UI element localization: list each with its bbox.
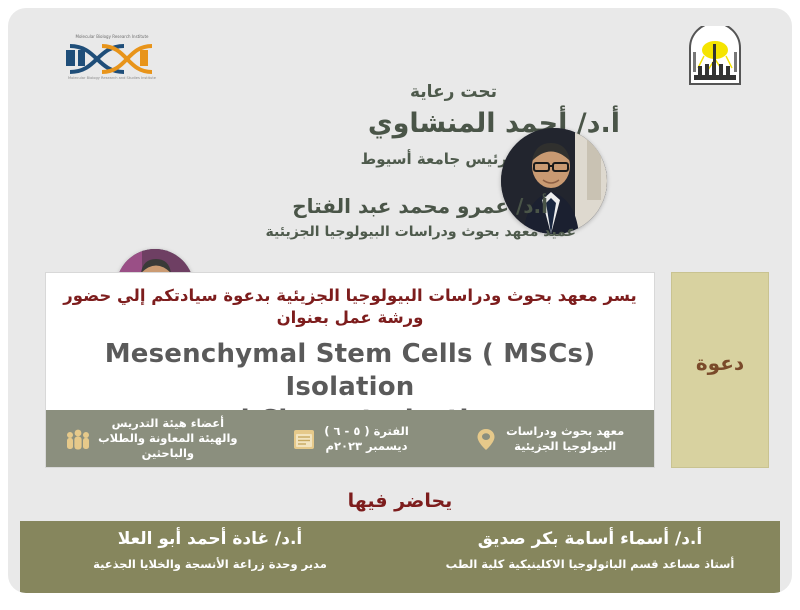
speaker-1-name: أ.د/ غادة أحمد أبو العلا [36,529,384,550]
under-patronage-label: تحت رعاية [410,82,497,102]
location-pin-icon [473,426,499,452]
people-group-icon [65,426,91,452]
poster-card: Molecular Biology Research Institute Mol… [8,8,792,593]
calendar-icon [291,426,317,452]
speaker-1: أ.د/ غادة أحمد أبو العلا مدير وحدة زراعة… [20,521,400,593]
chief-name: أ.د/ أحمد المنشاوي [368,108,620,139]
info-text-location: معهد بحوث ودراسات البيولوجيا الجزيئية [506,424,624,454]
dean-role: عميد معهد بحوث ودراسات البيولوجيا الجزيئ… [266,224,576,240]
poster-root: Molecular Biology Research Institute Mol… [0,0,800,610]
lecturers-heading: يحاضر فيها [8,490,792,512]
speaker-2-title: أستاذ مساعد قسم الباثولوجيا الاكلينيكية … [416,557,764,572]
portrait-ahmed-elminshawy [501,128,607,234]
info-cell-location: معهد بحوث ودراسات البيولوجيا الجزيئية [449,424,648,454]
speaker-2: أ.د/ أسماء أسامة بكر صديق أستاذ مساعد قس… [400,521,780,593]
chief-role: رئيس جامعة أسيوط [361,150,507,168]
dean-name: أ.د/ عمرو محمد عبد الفتاح [292,194,548,218]
speakers-bar: أ.د/ غادة أحمد أبو العلا مدير وحدة زراعة… [20,521,780,593]
info-text-date: الفترة ( ٥ - ٦ ) ديسمبر ٢٠٢٣م [324,424,409,454]
info-cell-date: الفترة ( ٥ - ٦ ) ديسمبر ٢٠٢٣م [251,424,450,454]
speaker-1-title: مدير وحدة زراعة الأنسجة والخلايا الجذعية [36,557,384,572]
patronage-block: تحت رعاية أ.د/ أحمد المنشاوي رئيس جامعة … [8,74,792,264]
workshop-title-line1: Mesenchymal Stem Cells ( MSCs) Isolation [56,338,644,405]
invitation-word: دعوة [672,351,768,375]
info-cell-audience: أعضاء هيئة التدريس والهيئة المعاونة والط… [52,416,251,461]
workshop-title-box: يسر معهد بحوث ودراسات البيولوجيا الجزيئي… [45,272,655,468]
invitation-text: يسر معهد بحوث ودراسات البيولوجيا الجزيئي… [60,285,640,330]
svg-text:Molecular Biology Research Ins: Molecular Biology Research Institute [76,34,149,39]
invitation-side-panel: دعوة [671,272,769,468]
info-strip: أعضاء هيئة التدريس والهيئة المعاونة والط… [46,410,654,467]
info-text-audience: أعضاء هيئة التدريس والهيئة المعاونة والط… [98,416,238,461]
speaker-2-name: أ.د/ أسماء أسامة بكر صديق [416,529,764,550]
